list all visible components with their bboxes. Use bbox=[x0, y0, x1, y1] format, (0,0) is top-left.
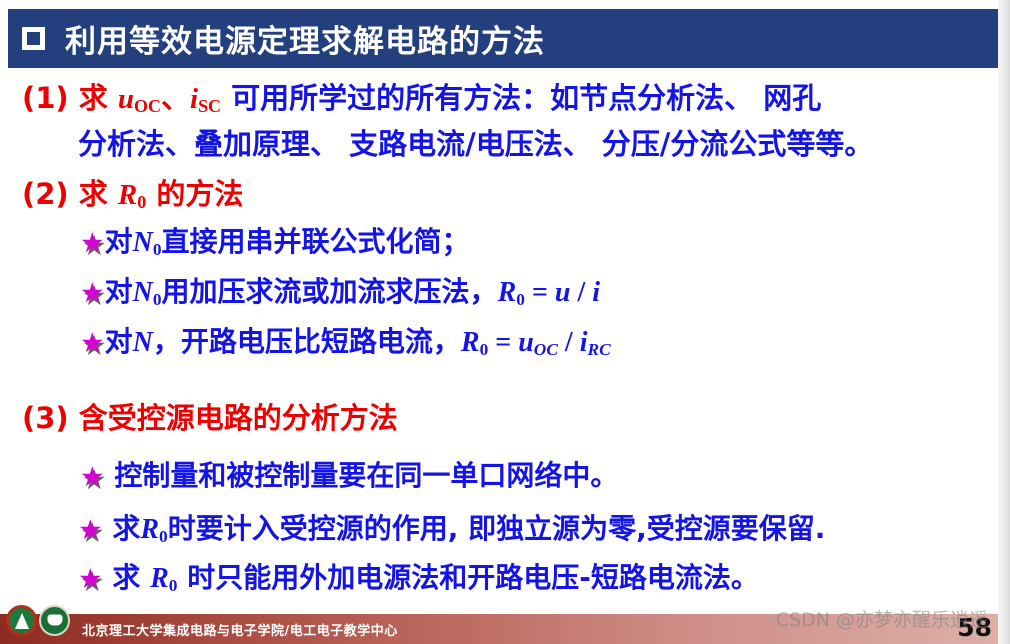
hollow-square-bullet-icon bbox=[22, 27, 45, 50]
sub-bullet-2-text-b: 用加压求流或加流求压法， bbox=[162, 275, 498, 308]
sub-bullet-5: ★ 求R0时要计入受控源的作用, 即独立源为零,受控源要保留. bbox=[78, 515, 825, 545]
sub-bullet-5-text-a: 求 bbox=[103, 512, 141, 545]
item2-tail: 的方法 bbox=[146, 177, 243, 211]
bullet-item-2: (2) 求 R0 的方法 bbox=[22, 180, 243, 211]
item1-tail: 可用所学过的所有方法：如节点分析法、 网孔 bbox=[221, 81, 821, 115]
bullet-item-1-line-2: 分析法、叠加原理、 支路电流/电压法、 分压/分流公式等等。 bbox=[78, 130, 873, 159]
sub-bullet-3-var-n: N bbox=[133, 327, 153, 358]
slide-footer: 北京理工大学集成电路与电子学院/电工电子教学中心 bbox=[0, 614, 998, 644]
sub-bullet-5-var-r0: R0 bbox=[140, 514, 167, 545]
item1-marker: (1) 求 bbox=[22, 81, 118, 115]
sub-bullet-2-text-a: 对 bbox=[105, 275, 133, 308]
star-bullet-icon: ★ bbox=[78, 566, 103, 593]
star-bullet-icon: ★ bbox=[80, 464, 105, 491]
sub-bullet-1: ★对N0直接用串并联公式化简； bbox=[80, 228, 470, 258]
bullet-item-1-line-1: (1) 求 uOC、iSC 可用所学过的所有方法：如节点分析法、 网孔 bbox=[22, 84, 821, 115]
sub-bullet-2-var-n0: N0 bbox=[133, 277, 162, 308]
sub-bullet-6: ★ 求 R0 时只能用外加电源法和开路电压-短路电流法。 bbox=[78, 564, 759, 594]
bullet-item-3: (3) 含受控源电路的分析方法 bbox=[22, 404, 398, 433]
item1-var-isc: iSC bbox=[190, 83, 221, 115]
sub-bullet-6-text-a: 求 bbox=[103, 561, 151, 594]
item2-var-r0: R0 bbox=[118, 179, 146, 211]
sub-bullet-6-text-b: 时只能用外加电源法和开路电压-短路电流法。 bbox=[177, 561, 758, 594]
page-number: 58 bbox=[957, 613, 992, 642]
slide-body: (1) 求 uOC、iSC 可用所学过的所有方法：如节点分析法、 网孔 分析法、… bbox=[0, 72, 1010, 602]
sub-bullet-1-text-a: 对 bbox=[105, 225, 133, 258]
star-bullet-icon: ★ bbox=[80, 330, 105, 357]
sub-bullet-3-text-a: 对 bbox=[105, 325, 133, 358]
formula-r0-equals-uoc-over-irc: R0 = uOC / iRC bbox=[461, 327, 611, 358]
sub-bullet-4-text: 控制量和被控制量要在同一单口网络中。 bbox=[105, 459, 619, 492]
sub-bullet-3: ★对N，开路电压比短路电流，R0 = uOC / iRC bbox=[80, 328, 611, 358]
item1-separator: 、 bbox=[161, 81, 190, 115]
item2-marker: (2) 求 bbox=[22, 177, 118, 211]
footer-institution-text: 北京理工大学集成电路与电子学院/电工电子教学中心 bbox=[82, 620, 398, 639]
item1-var-uoc: uOC bbox=[118, 83, 161, 115]
star-bullet-icon: ★ bbox=[78, 517, 103, 544]
star-bullet-icon: ★ bbox=[80, 230, 105, 257]
page-title: 利用等效电源定理求解电路的方法 bbox=[65, 16, 545, 61]
university-crest-icon bbox=[6, 605, 37, 636]
sub-bullet-6-var-r0: R0 bbox=[150, 563, 177, 594]
sub-bullet-4: ★ 控制量和被控制量要在同一单口网络中。 bbox=[80, 462, 618, 491]
formula-r0-equals-u-over-i: R0 = u / i bbox=[498, 277, 600, 308]
sub-bullet-1-text-b: 直接用串并联公式化简； bbox=[162, 225, 470, 258]
star-bullet-icon: ★ bbox=[80, 280, 105, 307]
slide-canvas: 利用等效电源定理求解电路的方法 (1) 求 uOC、iSC 可用所学过的所有方法… bbox=[0, 0, 1010, 644]
sub-bullet-1-var-n0: N0 bbox=[133, 227, 162, 258]
sub-bullet-3-text-b: ，开路电压比短路电流， bbox=[153, 325, 461, 358]
window-scrollbar[interactable] bbox=[998, 0, 1010, 644]
slide-title-bar: 利用等效电源定理求解电路的方法 bbox=[8, 9, 998, 68]
sub-bullet-2: ★对N0用加压求流或加流求压法，R0 = u / i bbox=[80, 278, 600, 308]
sub-bullet-5-text-b: 时要计入受控源的作用, 即独立源为零,受控源要保留. bbox=[168, 512, 826, 545]
department-crest-icon bbox=[39, 605, 70, 636]
